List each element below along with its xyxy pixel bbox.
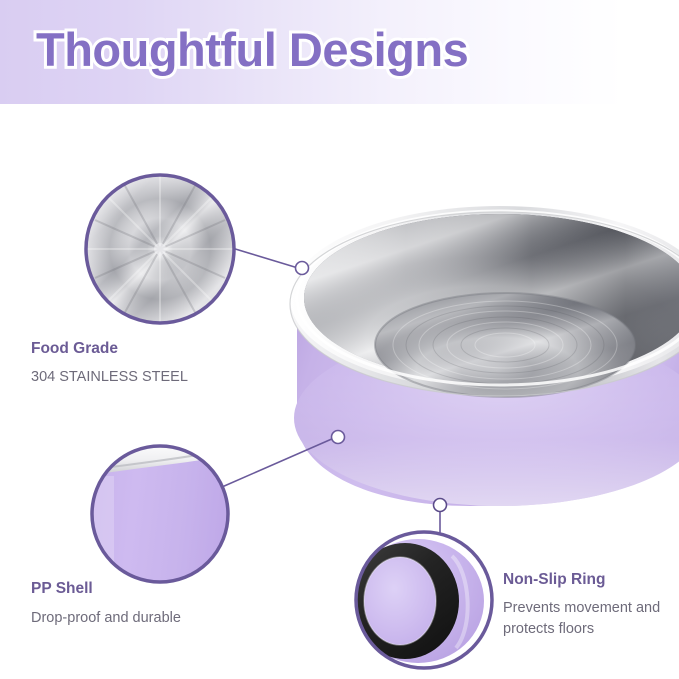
infographic-canvas: Thoughtful Designs <box>0 0 679 679</box>
leader-dot-pp-shell <box>332 431 345 444</box>
leader-dot-non-slip <box>434 499 447 512</box>
product-bowl-photo <box>290 206 679 506</box>
callout-title-pp-shell: PP Shell <box>31 580 93 598</box>
leader-line-pp-shell <box>222 438 334 487</box>
swatch-pp-shell <box>86 440 236 600</box>
callout-desc-pp-shell: Drop-proof and durable <box>31 608 181 629</box>
callout-title-food-grade: Food Grade <box>31 340 118 358</box>
callout-desc-food-grade: 304 STAINLESS STEEL <box>31 367 188 388</box>
swatch-non-slip-ring <box>351 532 492 668</box>
callout-desc-non-slip-ring: Prevents movement and protects floors <box>503 598 673 640</box>
callout-title-non-slip-ring: Non-Slip Ring <box>503 571 605 589</box>
leader-line-food-grade <box>232 248 298 268</box>
leader-dot-food-grade <box>296 262 309 275</box>
swatch-stainless-steel <box>86 175 234 323</box>
